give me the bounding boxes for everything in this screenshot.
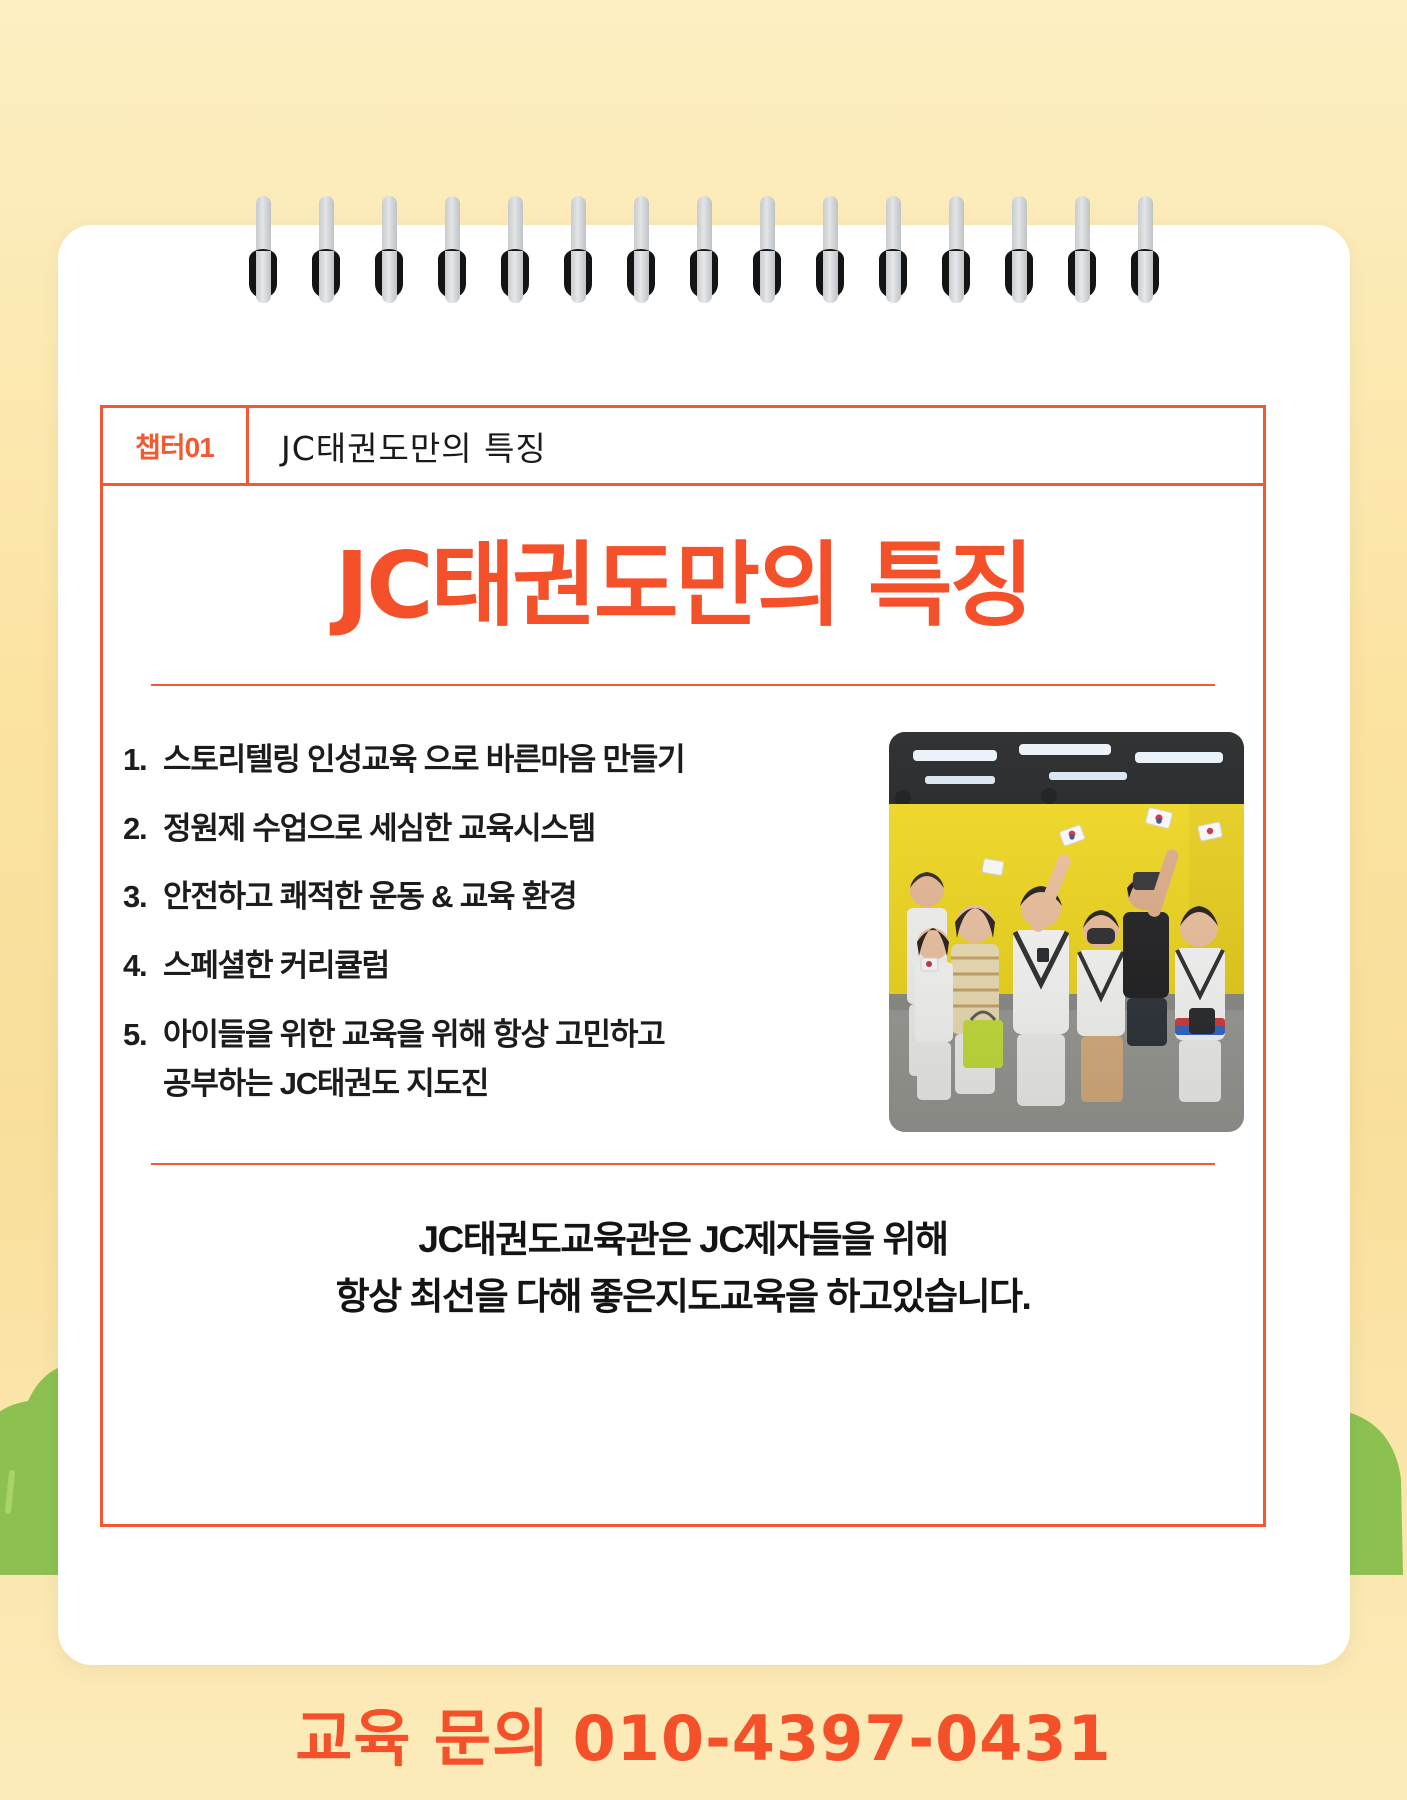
- closing-statement: JC태권도교육관은 JC제자들을 위해 항상 최선을 다해 좋은지도교육을 하고…: [103, 1211, 1263, 1326]
- chapter-header-row: 챕터01 JC태권도만의 특징: [103, 408, 1263, 486]
- list-item-label: 안전하고 쾌적한 운동 & 교육 환경: [163, 877, 889, 917]
- divider-lower: [151, 1163, 1215, 1165]
- contact-phone[interactable]: 교육 문의 010-4397-0431: [0, 1688, 1407, 1778]
- taekwondo-students-photo: [889, 732, 1244, 1132]
- list-item-label: 스페셜한 커리큘럼: [163, 946, 889, 986]
- list-item-line2: 공부하는 JC태권도 지도진: [163, 1064, 889, 1104]
- list-item-number: 3.: [123, 877, 163, 917]
- closing-line-1: JC태권도교육관은 JC제자들을 위해: [103, 1211, 1263, 1268]
- list-item-line1: 아이들을 위한 교육을 위해 항상 고민하고: [163, 1017, 665, 1052]
- closing-line-2: 항상 최선을 다해 좋은지도교육을 하고있습니다.: [103, 1268, 1263, 1325]
- list-item-number: 4.: [123, 946, 163, 986]
- features-and-photo: 1. 스토리텔링 인성교육 으로 바른마음 만들기 2. 정원제 수업으로 세심…: [103, 686, 1263, 1133]
- notepad-card: 챕터01 JC태권도만의 특징 JC태권도만의 특징 1. 스토리텔링 인성교육…: [58, 225, 1350, 1665]
- list-item-label: 정원제 수업으로 세심한 교육시스템: [163, 809, 889, 849]
- list-item: 4. 스페셜한 커리큘럼: [123, 946, 889, 986]
- chapter-title: JC태권도만의 특징: [249, 408, 1263, 483]
- content-panel: 챕터01 JC태권도만의 특징 JC태권도만의 특징 1. 스토리텔링 인성교육…: [100, 405, 1266, 1527]
- list-item-number: 5.: [123, 1015, 163, 1104]
- page-title: JC태권도만의 특징: [103, 540, 1263, 632]
- list-item-number: 1.: [123, 740, 163, 780]
- chapter-tag: 챕터01: [103, 408, 249, 483]
- list-item-label: 아이들을 위한 교육을 위해 항상 고민하고 공부하는 JC태권도 지도진: [163, 1015, 889, 1104]
- list-item: 3. 안전하고 쾌적한 운동 & 교육 환경: [123, 877, 889, 917]
- photo-container: [889, 732, 1249, 1133]
- list-item: 2. 정원제 수업으로 세심한 교육시스템: [123, 809, 889, 849]
- list-item-label: 스토리텔링 인성교육 으로 바른마음 만들기: [163, 740, 889, 780]
- feature-list: 1. 스토리텔링 인성교육 으로 바른마음 만들기 2. 정원제 수업으로 세심…: [103, 732, 889, 1133]
- list-item-number: 2.: [123, 809, 163, 849]
- list-item: 1. 스토리텔링 인성교육 으로 바른마음 만들기: [123, 740, 889, 780]
- list-item: 5. 아이들을 위한 교육을 위해 항상 고민하고 공부하는 JC태권도 지도진: [123, 1015, 889, 1104]
